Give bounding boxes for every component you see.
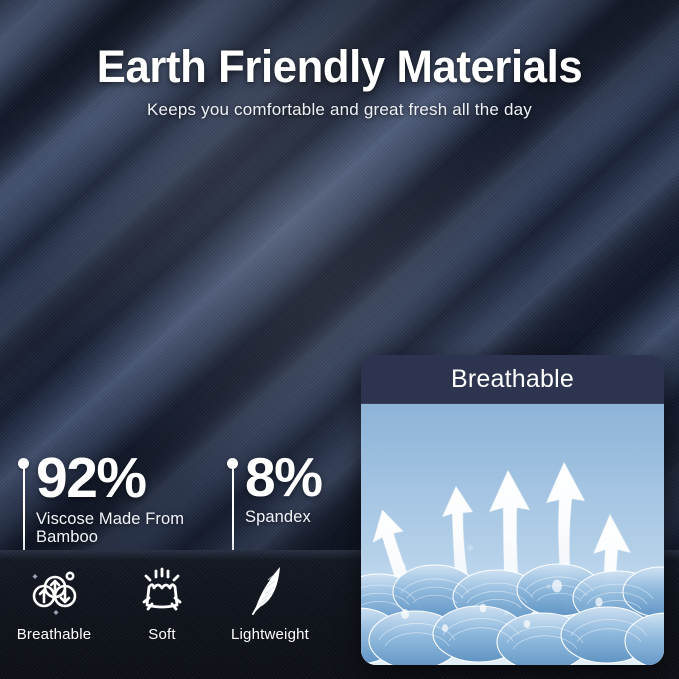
feature-item-breathable: Breathable [0, 560, 108, 643]
feature-item-soft: Soft [108, 560, 216, 643]
card-illustration [361, 404, 664, 665]
stat-item: 92% Viscose Made From Bamboo [18, 452, 196, 550]
stat-value: 92% [36, 452, 196, 506]
pin-marker-icon [227, 458, 238, 550]
material-composition-stats: 92% Viscose Made From Bamboo 8% Spandex [18, 452, 322, 550]
page-title: Earth Friendly Materials [10, 41, 669, 93]
stat-label: Spandex [245, 508, 322, 526]
stat-label: Viscose Made From Bamboo [36, 510, 196, 547]
vapor-bubbles [361, 404, 664, 665]
feature-item-lightweight: Lightweight [216, 560, 324, 643]
card-header: Breathable [361, 355, 664, 404]
feature-label: Lightweight [216, 626, 324, 643]
pin-marker-icon [18, 458, 29, 550]
card-title: Breathable [451, 365, 574, 394]
pin-line [23, 467, 25, 550]
stat-body: 8% Spandex [245, 452, 322, 526]
stat-value: 8% [245, 452, 322, 504]
soft-fabric-icon [108, 560, 216, 622]
air-circulation-icon [0, 560, 108, 622]
feature-label: Breathable [0, 626, 108, 643]
pin-line [232, 467, 234, 550]
page-subtitle: Keeps you comfortable and great fresh al… [0, 100, 679, 120]
feature-label: Soft [108, 626, 216, 643]
feature-list: Breathable Soft [0, 560, 340, 643]
stat-item: 8% Spandex [227, 452, 322, 550]
product-feature-poster: Earth Friendly Materials Keeps you comfo… [0, 0, 679, 679]
stat-body: 92% Viscose Made From Bamboo [36, 452, 196, 547]
feather-icon [216, 560, 324, 622]
breathable-card: Breathable [361, 355, 664, 665]
